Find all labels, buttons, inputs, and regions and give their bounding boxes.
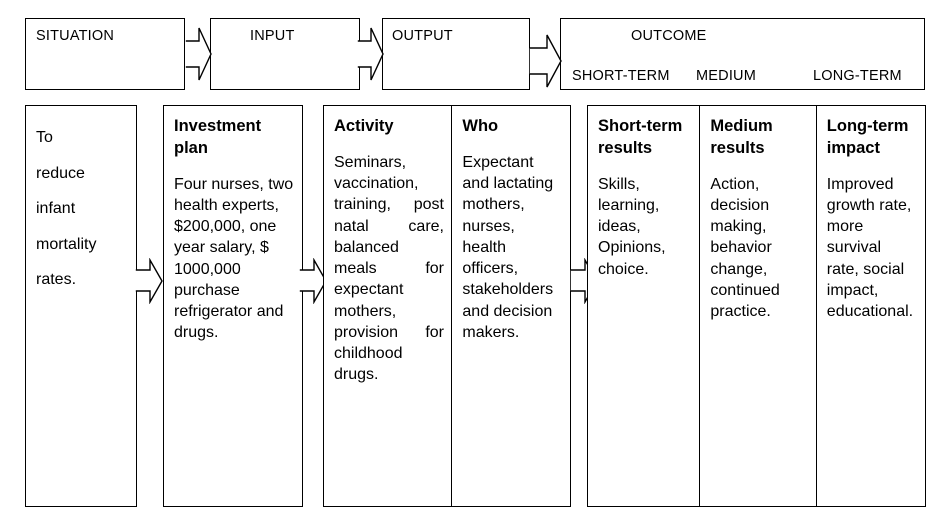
content-body-long-term-impact: Improved growth rate, more survival rate… (827, 174, 917, 323)
content-title-medium-results: Medium results (710, 116, 808, 160)
content-body-activity: Seminars, vaccination, training, post na… (334, 152, 444, 386)
right-arrow-icon (529, 32, 562, 90)
header-label-situation: SITUATION (36, 28, 114, 44)
right-arrow-icon (185, 24, 212, 84)
right-arrow-icon (357, 24, 384, 84)
content-column-activity[interactable]: Activity Seminars, vaccination, training… (323, 105, 453, 507)
content-title-who: Who (462, 116, 562, 138)
header-sublabel-medium: MEDIUM (696, 68, 756, 84)
header-sublabel-short-term: SHORT-TERM (572, 68, 670, 84)
right-arrow-icon (135, 258, 163, 304)
content-body-medium-results: Action, decision making, behavior change… (710, 174, 808, 323)
content-body-situation: To reduce infant mortality rates. (36, 120, 128, 298)
header-label-outcome: OUTCOME (631, 28, 707, 44)
header-sublabel-long-term: LONG-TERM (813, 68, 902, 84)
header-label-output: OUTPUT (392, 28, 453, 44)
content-column-situation[interactable]: To reduce infant mortality rates. (25, 105, 137, 507)
content-column-who[interactable]: Who Expectant and lactating mothers, nur… (451, 105, 571, 507)
header-label-input: INPUT (250, 28, 295, 44)
content-body-short-term-results: Skills, learning, ideas, Opinions, choic… (598, 174, 692, 280)
content-title-long-term-impact: Long-term impact (827, 116, 917, 160)
content-column-investment-plan[interactable]: Investment plan Four nurses, two health … (163, 105, 303, 507)
content-body-investment-plan: Four nurses, two health experts, $200,00… (174, 174, 294, 344)
content-title-investment-plan: Investment plan (174, 116, 294, 160)
content-title-activity: Activity (334, 116, 444, 138)
content-column-long-term-impact[interactable]: Long-term impact Improved growth rate, m… (816, 105, 926, 507)
content-column-medium-results[interactable]: Medium results Action, decision making, … (699, 105, 817, 507)
content-body-who: Expectant and lactating mothers, nurses,… (462, 152, 562, 343)
content-column-short-term-results[interactable]: Short-term results Skills, learning, ide… (587, 105, 701, 507)
content-title-short-term-results: Short-term results (598, 116, 692, 160)
logic-model-diagram: SITUATION INPUT OUTPUT OUTCOME SHORT-TER… (0, 0, 950, 526)
